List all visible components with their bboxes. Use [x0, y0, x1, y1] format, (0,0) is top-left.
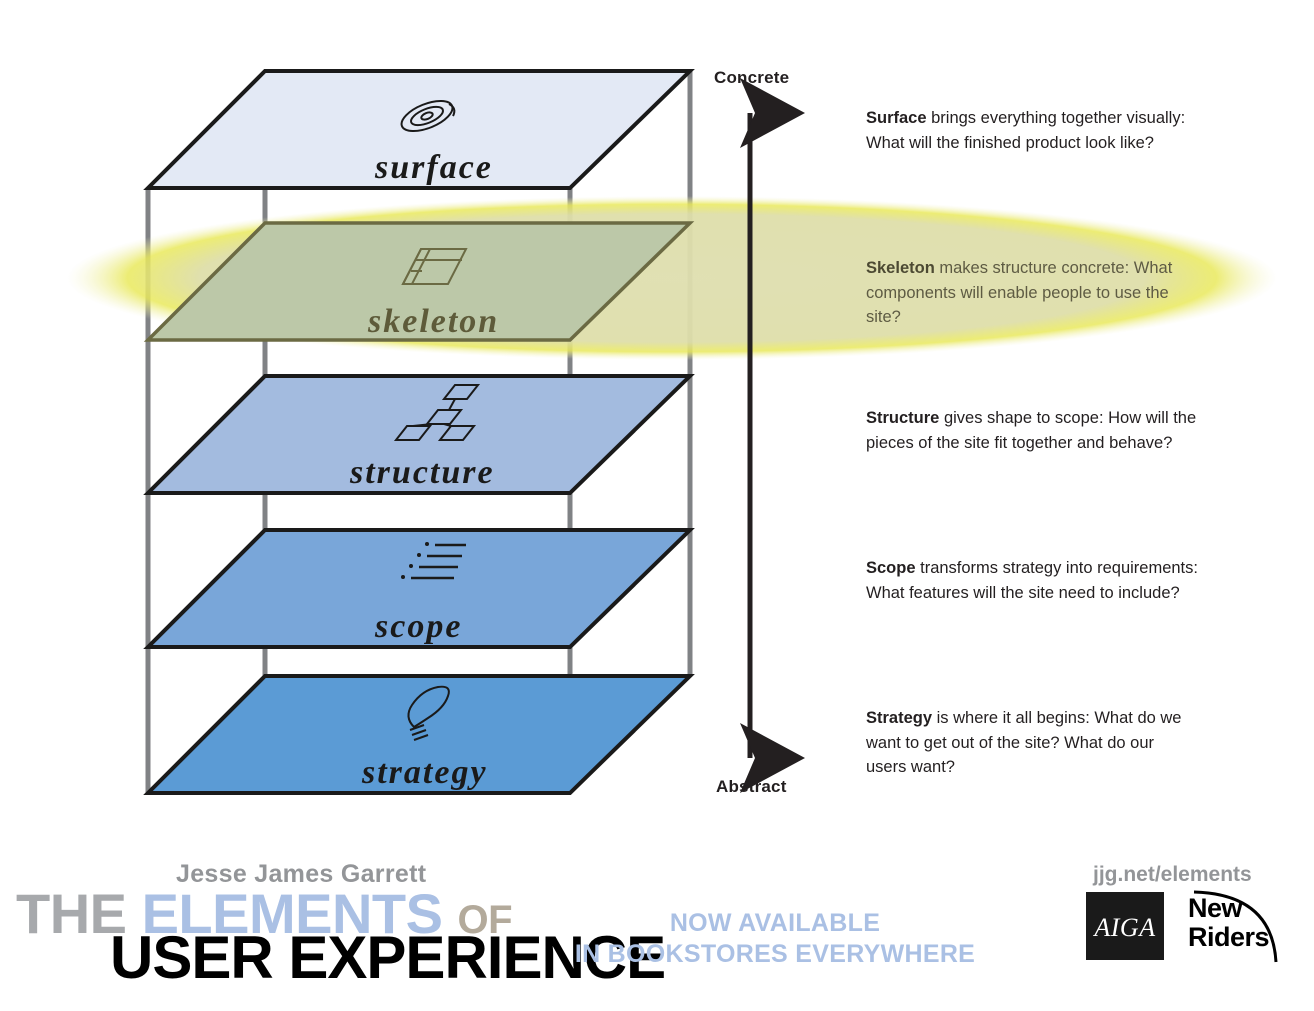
poster-canvas: surface skeleton	[0, 0, 1314, 1011]
description-structure-term: Structure	[866, 409, 939, 427]
description-strategy-term: Strategy	[866, 709, 932, 727]
description-skeleton: Skeleton makes structure concrete: What …	[866, 256, 1198, 330]
layer-surface-label: surface	[374, 149, 493, 186]
layer-structure[interactable]: structure	[148, 376, 690, 493]
description-scope-term: Scope	[866, 559, 916, 577]
description-skeleton-term: Skeleton	[866, 259, 935, 277]
promo-text: NOW AVAILABLE IN BOOKSTORES EVERYWHERE	[520, 908, 1030, 970]
layer-skeleton-label: skeleton	[367, 303, 499, 340]
promo-line-1: NOW AVAILABLE	[520, 908, 1030, 939]
description-surface: Surface brings everything together visua…	[866, 106, 1198, 155]
axis-label-abstract: Abstract	[716, 777, 787, 797]
publisher-logos: AIGA New Riders	[1086, 892, 1286, 962]
layer-surface[interactable]: surface	[148, 71, 690, 188]
new-riders-logo-text: New Riders	[1188, 894, 1269, 952]
layer-strategy[interactable]: strategy	[148, 676, 690, 793]
layer-strategy-label: strategy	[361, 754, 488, 791]
axis-label-concrete: Concrete	[714, 68, 789, 88]
description-surface-term: Surface	[866, 109, 927, 127]
aiga-logo[interactable]: AIGA	[1086, 892, 1164, 960]
new-riders-logo[interactable]: New Riders	[1188, 890, 1288, 964]
new-riders-word-riders: Riders	[1188, 923, 1269, 952]
layer-scope-label: scope	[374, 608, 462, 645]
description-scope-text: transforms strategy into requirements: W…	[866, 559, 1198, 602]
description-strategy: Strategy is where it all begins: What do…	[866, 706, 1198, 780]
promo-line-2: IN BOOKSTORES EVERYWHERE	[520, 939, 1030, 970]
aiga-logo-text: AIGA	[1086, 913, 1164, 943]
description-structure: Structure gives shape to scope: How will…	[866, 406, 1198, 455]
branding-footer: Jesse James Garrett THE ELEMENTS OF USER…	[0, 830, 1314, 1011]
website-url[interactable]: jjg.net/elements	[1093, 863, 1252, 887]
description-scope: Scope transforms strategy into requireme…	[866, 556, 1198, 605]
layer-scope[interactable]: scope	[148, 530, 690, 647]
new-riders-word-new: New	[1188, 894, 1269, 923]
layer-structure-label: structure	[349, 454, 495, 491]
